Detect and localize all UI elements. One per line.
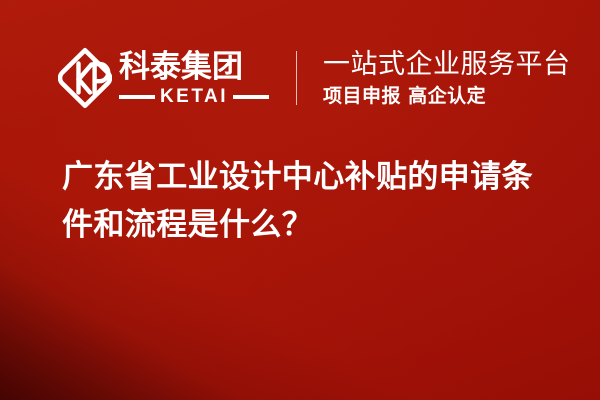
ketai-diamond-kp-logo-icon [58,46,112,110]
banner-header: 科泰集团 KETAI 一站式企业服务平台 项目申报 高企认定 [58,44,571,112]
header-divider [296,51,297,105]
tagline-group: 一站式企业服务平台 项目申报 高企认定 [323,46,571,110]
wordmark-dash-right-icon [233,95,269,99]
wordmark-dash-left-icon [119,95,155,99]
brand-name-en-row: KETAI [119,87,269,107]
brand-wordmark: 科泰集团 KETAI [119,46,269,110]
tagline-primary: 一站式企业服务平台 [323,49,571,81]
promo-banner: 科泰集团 KETAI 一站式企业服务平台 项目申报 高企认定 广东省工业设计中心… [0,0,600,400]
brand-name-cn: 科泰集团 [119,49,269,85]
headline-title: 广东省工业设计中心补贴的申请条件和流程是什么？ [62,153,562,249]
tagline-secondary: 项目申报 高企认定 [323,84,571,108]
brand-name-en: KETAI [155,87,233,107]
brand-logo[interactable]: 科泰集团 KETAI [58,44,269,112]
